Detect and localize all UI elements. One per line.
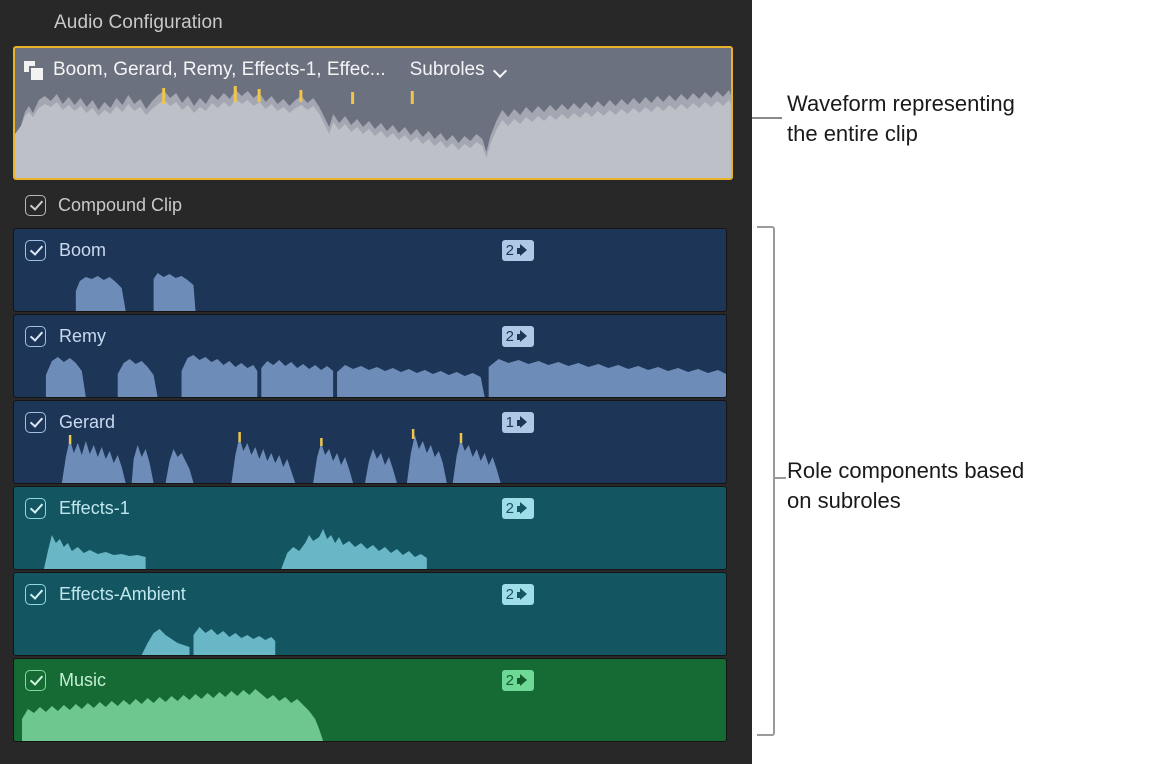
role-component-row[interactable]: Music 2 — [13, 658, 727, 742]
role-components-callout-text: Role components based on subroles — [787, 456, 1024, 516]
channel-count-value: 2 — [506, 243, 514, 258]
speaker-icon — [517, 674, 530, 687]
role-components-callout-tick — [775, 477, 786, 479]
role-component-header: Remy — [14, 315, 726, 357]
role-component-checkbox[interactable] — [25, 412, 46, 433]
channel-count-badge: 2 — [502, 326, 534, 347]
compound-clip-label: Compound Clip — [58, 195, 182, 216]
clip-name-label: Boom, Gerard, Remy, Effects-1, Effec... — [53, 59, 386, 81]
role-component-row[interactable]: Gerard 1 — [13, 400, 727, 484]
role-component-header: Boom — [14, 229, 726, 271]
channel-count-badge: 2 — [502, 498, 534, 519]
role-component-checkbox[interactable] — [25, 670, 46, 691]
role-component-label: Gerard — [59, 412, 115, 433]
chevron-down-icon — [494, 66, 507, 74]
waveform-callout-leader-line — [752, 117, 782, 119]
channel-count-value: 2 — [506, 501, 514, 516]
compound-clip-icon — [24, 61, 42, 79]
role-component-checkbox[interactable] — [25, 584, 46, 605]
speaker-icon — [517, 330, 530, 343]
role-component-row[interactable]: Remy 2 — [13, 314, 727, 398]
channel-count-badge: 2 — [502, 670, 534, 691]
role-component-label: Effects-Ambient — [59, 584, 186, 605]
channel-count-badge: 2 — [502, 240, 534, 261]
role-component-label: Boom — [59, 240, 106, 261]
role-component-header: Music — [14, 659, 726, 701]
role-component-label: Music — [59, 670, 106, 691]
role-component-row[interactable]: Effects-1 2 — [13, 486, 727, 570]
clip-waveform — [15, 86, 731, 178]
role-component-label: Remy — [59, 326, 106, 347]
subroles-dropdown[interactable]: Subroles — [410, 59, 507, 81]
role-component-row[interactable]: Effects-Ambient 2 — [13, 572, 727, 656]
role-component-header: Gerard — [14, 401, 726, 443]
waveform-callout-text: Waveform representing the entire clip — [787, 89, 1015, 149]
role-component-header: Effects-1 — [14, 487, 726, 529]
channel-count-value: 2 — [506, 329, 514, 344]
compound-clip-checkbox[interactable] — [25, 195, 46, 216]
role-component-row[interactable]: Boom 2 — [13, 228, 727, 312]
role-component-header: Effects-Ambient — [14, 573, 726, 615]
role-component-checkbox[interactable] — [25, 326, 46, 347]
role-components-callout-bracket — [757, 226, 775, 736]
channel-count-value: 2 — [506, 673, 514, 688]
selected-clip-card[interactable]: Boom, Gerard, Remy, Effects-1, Effec... … — [13, 46, 733, 180]
speaker-icon — [517, 588, 530, 601]
role-components-list: Boom 2 Remy 2 — [13, 228, 727, 744]
channel-count-badge: 1 — [502, 412, 534, 433]
subroles-label: Subroles — [410, 59, 485, 81]
speaker-icon — [517, 416, 530, 429]
audio-configuration-panel: Audio Configuration Boom, Gerard, Remy, … — [0, 0, 752, 764]
speaker-icon — [517, 502, 530, 515]
role-component-label: Effects-1 — [59, 498, 130, 519]
speaker-icon — [517, 244, 530, 257]
channel-count-value: 2 — [506, 587, 514, 602]
compound-clip-row[interactable]: Compound Clip — [13, 186, 733, 224]
page-title: Audio Configuration — [54, 12, 223, 34]
channel-count-value: 1 — [506, 415, 514, 430]
role-component-checkbox[interactable] — [25, 240, 46, 261]
role-component-checkbox[interactable] — [25, 498, 46, 519]
channel-count-badge: 2 — [502, 584, 534, 605]
